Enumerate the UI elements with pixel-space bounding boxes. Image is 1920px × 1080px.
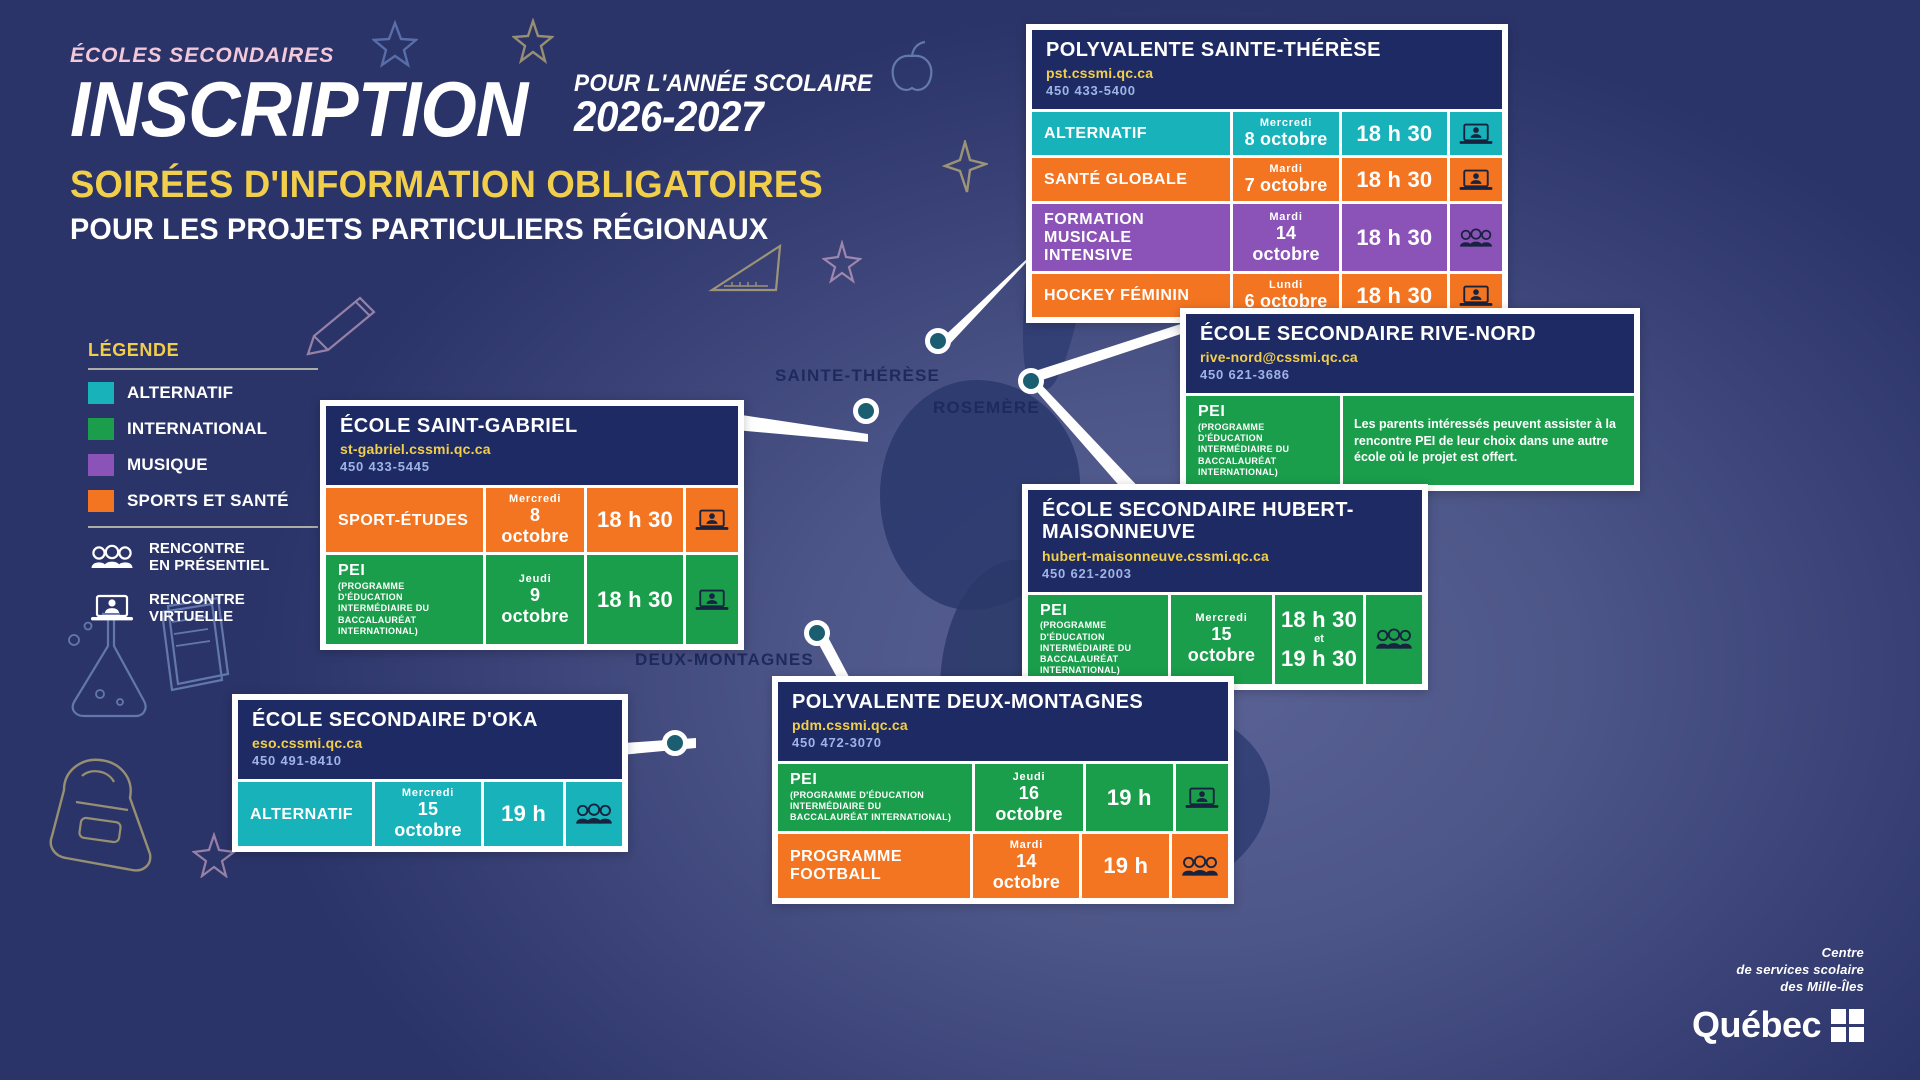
school-phone: 450 621-2003 <box>1042 566 1408 581</box>
program-row-alternatif[interactable]: ALTERNATIF Mercredi 8 octobre 18 h 30 <box>1032 112 1502 155</box>
legend-label-international: INTERNATIONAL <box>127 419 267 439</box>
connector-saint-gabriel <box>735 400 870 445</box>
program-rows: ALTERNATIF Mercredi 15 octobre 19 h <box>238 782 622 846</box>
program-row-pei[interactable]: PEI (PROGRAMME D'ÉDUCATION INTERMÉDIAIRE… <box>326 555 738 644</box>
program-row-alternatif[interactable]: ALTERNATIF Mercredi 15 octobre 19 h <box>238 782 622 846</box>
school-website[interactable]: pst.cssmi.qc.ca <box>1046 65 1488 81</box>
school-email[interactable]: rive-nord@cssmi.qc.ca <box>1200 349 1620 365</box>
date-value: 8 octobre <box>1245 129 1328 150</box>
virtual-meeting-icon <box>1450 158 1502 201</box>
map-dot-sainte-therese[interactable] <box>925 328 951 354</box>
legend-label-sports: SPORTS ET SANTÉ <box>127 491 289 511</box>
swatch-sports <box>88 490 114 512</box>
legend-label-in-person: RENCONTREEN PRÉSENTIEL <box>149 540 270 575</box>
legend-item-international: INTERNATIONAL <box>88 418 318 440</box>
program-title: ALTERNATIF <box>250 806 353 824</box>
swatch-musique <box>88 454 114 476</box>
school-phone: 450 491-8410 <box>252 753 608 768</box>
legend-item-alternatif: ALTERNATIF <box>88 382 318 404</box>
program-name-cell: ALTERNATIF <box>1032 112 1230 155</box>
swatch-international <box>88 418 114 440</box>
card-header: ÉCOLE SECONDAIRE HUBERT-MAISONNEUVE hube… <box>1028 490 1422 592</box>
school-website[interactable]: st-gabriel.cssmi.qc.ca <box>340 441 724 457</box>
quebec-flag-icon <box>1831 1009 1864 1042</box>
map-label-sainte-therese: SAINTE-THÉRÈSE <box>775 366 940 386</box>
star-doodle-pink-2 <box>192 832 236 878</box>
school-name: POLYVALENTE DEUX-MONTAGNES <box>792 691 1214 713</box>
in-person-meeting-icon <box>1366 595 1422 684</box>
date-value: 14 octobre <box>983 851 1069 893</box>
school-year: 2026-2027 <box>574 96 872 140</box>
program-name-cell: FORMATION MUSICALE INTENSIVE <box>1032 204 1230 271</box>
page-title: INSCRIPTION <box>70 74 527 146</box>
date-value: 7 octobre <box>1245 175 1328 196</box>
program-title: PEI <box>1198 403 1225 421</box>
school-card-ecole-secondaire-rive-nord[interactable]: ÉCOLE SECONDAIRE RIVE-NORD rive-nord@css… <box>1180 308 1640 491</box>
program-title: ALTERNATIF <box>1044 125 1147 143</box>
school-name: POLYVALENTE SAINTE-THÉRÈSE <box>1046 39 1488 61</box>
program-time-cell: 18 h 30 <box>1342 158 1447 201</box>
time-value: 18 h 30 <box>597 507 673 533</box>
time-value: 18 h 30 <box>597 587 673 613</box>
program-rows: SPORT-ÉTUDES Mercredi 8 octobre 18 h 30 … <box>326 488 738 644</box>
school-card-ecole-secondaire-hubert-maisonneuve[interactable]: ÉCOLE SECONDAIRE HUBERT-MAISONNEUVE hube… <box>1022 484 1428 690</box>
program-name-cell: PEI (PROGRAMME D'ÉDUCATION INTERMÉDIAIRE… <box>1028 595 1168 684</box>
school-phone: 450 433-5445 <box>340 459 724 474</box>
time-value: 18 h 30 <box>1356 225 1432 251</box>
program-time-cell: 18 h 30 <box>1342 204 1447 271</box>
program-name-cell: PEI (PROGRAMME D'ÉDUCATION INTERMÉDIAIRE… <box>326 555 483 644</box>
program-subtitle: (PROGRAMME D'ÉDUCATION INTERMÉDIAIRE DU … <box>1198 422 1328 478</box>
school-name: ÉCOLE SAINT-GABRIEL <box>340 415 724 437</box>
legend-label-virtual: RENCONTREVIRTUELLE <box>149 591 245 626</box>
card-header: POLYVALENTE SAINTE-THÉRÈSE pst.cssmi.qc.… <box>1032 30 1502 109</box>
time-value: 18 h 30 <box>1356 283 1432 309</box>
school-phone: 450 433-5400 <box>1046 83 1488 98</box>
virtual-meeting-icon <box>686 555 738 644</box>
program-date-cell: Mardi 14 octobre <box>1233 204 1338 271</box>
time-value: 19 h <box>501 801 546 827</box>
quebec-logo: Québec <box>1692 1004 1864 1046</box>
legend-item-sports: SPORTS ET SANTÉ <box>88 490 318 512</box>
program-rows: PEI (PROGRAMME D'ÉDUCATION INTERMÉDIAIRE… <box>778 764 1228 897</box>
program-time-cell: 18 h 30 <box>587 488 683 552</box>
program-row-formation-musicale[interactable]: FORMATION MUSICALE INTENSIVE Mardi 14 oc… <box>1032 204 1502 271</box>
backpack-doodle <box>30 742 166 878</box>
program-title: HOCKEY FÉMININ <box>1044 287 1189 305</box>
date-weekday: Mercredi <box>1260 117 1312 129</box>
card-header: POLYVALENTE DEUX-MONTAGNES pdm.cssmi.qc.… <box>778 682 1228 761</box>
card-header: ÉCOLE SECONDAIRE RIVE-NORD rive-nord@css… <box>1186 314 1634 393</box>
legend-divider-top <box>88 368 318 370</box>
program-title: PROGRAMME FOOTBALL <box>790 848 958 883</box>
time-value: 19 h <box>1103 853 1148 879</box>
program-name-cell: PEI (PROGRAMME D'ÉDUCATION INTERMÉDIAIRE… <box>1186 396 1340 485</box>
program-rows: ALTERNATIF Mercredi 8 octobre 18 h 30 SA… <box>1032 112 1502 317</box>
poster-background: ÉCOLES SECONDAIRES INSCRIPTION POUR L'AN… <box>0 0 1920 1080</box>
virtual-meeting-icon <box>686 488 738 552</box>
time-value: 18 h 30 <box>1281 607 1357 633</box>
date-weekday: Mercredi <box>402 787 454 799</box>
date-value: 14 octobre <box>1243 223 1328 265</box>
school-phone: 450 621-3686 <box>1200 367 1620 382</box>
school-website[interactable]: pdm.cssmi.qc.ca <box>792 717 1214 733</box>
school-name: ÉCOLE SECONDAIRE HUBERT-MAISONNEUVE <box>1042 499 1408 544</box>
date-weekday: Jeudi <box>519 573 552 585</box>
program-rows: PEI (PROGRAMME D'ÉDUCATION INTERMÉDIAIRE… <box>1028 595 1422 684</box>
time-value: 18 h 30 <box>1356 167 1432 193</box>
program-title: PEI <box>338 562 365 580</box>
school-phone: 450 472-3070 <box>792 735 1214 750</box>
legend-label-alternatif: ALTERNATIF <box>127 383 233 403</box>
program-row-pei[interactable]: PEI (PROGRAMME D'ÉDUCATION INTERMÉDIAIRE… <box>1186 396 1634 485</box>
program-row-sante-globale[interactable]: SANTÉ GLOBALE Mardi 7 octobre 18 h 30 <box>1032 158 1502 201</box>
legend-item-in-person: RENCONTREEN PRÉSENTIEL <box>88 540 318 575</box>
program-date-cell: Mercredi 15 octobre <box>375 782 481 846</box>
legend-title: LÉGENDE <box>88 340 318 361</box>
date-value: 15 octobre <box>385 799 471 841</box>
quebec-wordmark: Québec <box>1692 1004 1821 1046</box>
program-row-pei[interactable]: PEI (PROGRAMME D'ÉDUCATION INTERMÉDIAIRE… <box>1028 595 1422 684</box>
school-card-polyvalente-deux-montagnes[interactable]: POLYVALENTE DEUX-MONTAGNES pdm.cssmi.qc.… <box>772 676 1234 904</box>
subtitle-projects: POUR LES PROJETS PARTICULIERS RÉGIONAUX <box>70 213 1030 247</box>
program-date-cell: Jeudi 16 octobre <box>975 764 1082 830</box>
program-subtitle: (PROGRAMME D'ÉDUCATION INTERMÉDIAIRE DU … <box>790 790 960 824</box>
legend: LÉGENDE ALTERNATIF INTERNATIONAL MUSIQUE… <box>88 340 318 641</box>
program-time-cell: 19 h <box>1086 764 1173 830</box>
program-name-cell: SPORT-ÉTUDES <box>326 488 483 552</box>
program-subtitle: (PROGRAMME D'ÉDUCATION INTERMÉDIAIRE DU … <box>338 581 471 637</box>
virtual-meeting-icon <box>88 593 136 623</box>
in-person-meeting-icon <box>566 782 622 846</box>
in-person-meeting-icon <box>1450 204 1502 271</box>
virtual-meeting-icon <box>1450 112 1502 155</box>
program-date-cell: Mercredi 8 octobre <box>1233 112 1338 155</box>
time-value: 19 h <box>1107 785 1152 811</box>
program-rows: PEI (PROGRAMME D'ÉDUCATION INTERMÉDIAIRE… <box>1186 396 1634 485</box>
map-dot-saint-gabriel[interactable] <box>853 398 879 424</box>
legend-item-musique: MUSIQUE <box>88 454 318 476</box>
time-value: 18 h 30 <box>1356 121 1432 147</box>
school-name: ÉCOLE SECONDAIRE D'OKA <box>252 709 608 731</box>
program-row-programme-football[interactable]: PROGRAMME FOOTBALL Mardi 14 octobre 19 h <box>778 834 1228 898</box>
school-card-ecole-saint-gabriel[interactable]: ÉCOLE SAINT-GABRIEL st-gabriel.cssmi.qc.… <box>320 400 744 650</box>
date-weekday: Mardi <box>1010 839 1043 851</box>
subtitle-obligatory: SOIRÉES D'INFORMATION OBLIGATOIRES <box>70 164 1030 207</box>
program-time-cell: 18 h 30 <box>587 555 683 644</box>
program-name-cell: ALTERNATIF <box>238 782 372 846</box>
program-subtitle: (PROGRAMME D'ÉDUCATION INTERMÉDIAIRE DU … <box>1040 620 1156 676</box>
date-value: 15 octobre <box>1181 624 1262 666</box>
time-separator: et <box>1314 633 1324 646</box>
map-dot-oka[interactable] <box>662 730 688 756</box>
date-weekday: Jeudi <box>1013 771 1046 783</box>
map-label-deux-montagnes: DEUX-MONTAGNES <box>635 650 814 670</box>
program-name-cell: SANTÉ GLOBALE <box>1032 158 1230 201</box>
map-dot-deux-montagnes[interactable] <box>804 620 830 646</box>
card-header: ÉCOLE SECONDAIRE D'OKA eso.cssmi.qc.ca 4… <box>238 700 622 779</box>
footer-logo: Centre de services scolaire des Mille-Îl… <box>1692 945 1864 1046</box>
program-row-pei[interactable]: PEI (PROGRAMME D'ÉDUCATION INTERMÉDIAIRE… <box>778 764 1228 830</box>
legend-divider-middle <box>88 526 318 528</box>
program-title: SPORT-ÉTUDES <box>338 512 468 530</box>
school-note-text: Les parents intéressés peuvent assister … <box>1354 416 1623 465</box>
program-date-cell: Jeudi 9 octobre <box>486 555 584 644</box>
map-dot-rosemere[interactable] <box>1018 368 1044 394</box>
school-card-polyvalente-sainte-therese[interactable]: POLYVALENTE SAINTE-THÉRÈSE pst.cssmi.qc.… <box>1026 24 1508 323</box>
program-date-cell: Mardi 14 octobre <box>973 834 1079 898</box>
poster-header: ÉCOLES SECONDAIRES INSCRIPTION POUR L'AN… <box>70 44 1070 247</box>
program-date-cell: Mardi 7 octobre <box>1233 158 1338 201</box>
virtual-meeting-icon <box>1176 764 1228 830</box>
school-website[interactable]: hubert-maisonneuve.cssmi.qc.ca <box>1042 548 1408 564</box>
cssmi-org-name: Centre de services scolaire des Mille-Îl… <box>1692 945 1864 996</box>
program-time-cell: 19 h <box>1082 834 1169 898</box>
date-weekday: Mardi <box>1269 211 1302 223</box>
legend-label-musique: MUSIQUE <box>127 455 208 475</box>
date-weekday: Lundi <box>1269 279 1303 291</box>
date-value: 9 octobre <box>496 585 574 627</box>
program-time-cell: 18 h 30 et 19 h 30 <box>1275 595 1363 684</box>
program-name-cell: PEI (PROGRAMME D'ÉDUCATION INTERMÉDIAIRE… <box>778 764 972 830</box>
school-card-ecole-secondaire-oka[interactable]: ÉCOLE SECONDAIRE D'OKA eso.cssmi.qc.ca 4… <box>232 694 628 852</box>
time-value-second: 19 h 30 <box>1281 646 1357 672</box>
swatch-alternatif <box>88 382 114 404</box>
program-title: FORMATION MUSICALE INTENSIVE <box>1044 211 1218 264</box>
program-name-cell: PROGRAMME FOOTBALL <box>778 834 970 898</box>
program-row-sport-etudes[interactable]: SPORT-ÉTUDES Mercredi 8 octobre 18 h 30 <box>326 488 738 552</box>
program-time-cell: 19 h <box>484 782 563 846</box>
date-value: 8 octobre <box>496 505 574 547</box>
date-weekday: Mercredi <box>509 493 561 505</box>
legend-item-virtual: RENCONTREVIRTUELLE <box>88 591 318 626</box>
program-title: SANTÉ GLOBALE <box>1044 171 1187 189</box>
program-title: PEI <box>1040 602 1067 620</box>
school-website[interactable]: eso.cssmi.qc.ca <box>252 735 608 751</box>
program-date-cell: Mercredi 15 octobre <box>1171 595 1272 684</box>
program-date-cell: Mercredi 8 octobre <box>486 488 584 552</box>
card-header: ÉCOLE SAINT-GABRIEL st-gabriel.cssmi.qc.… <box>326 406 738 485</box>
school-note-cell: Les parents intéressés peuvent assister … <box>1343 396 1634 485</box>
map-label-rosemere: ROSEMÈRE <box>933 398 1040 418</box>
date-value: 16 octobre <box>985 783 1072 825</box>
in-person-meeting-icon <box>88 544 136 570</box>
program-title: PEI <box>790 771 817 789</box>
date-weekday: Mardi <box>1269 163 1302 175</box>
school-name: ÉCOLE SECONDAIRE RIVE-NORD <box>1200 323 1620 345</box>
program-time-cell: 18 h 30 <box>1342 112 1447 155</box>
date-weekday: Mercredi <box>1195 612 1247 624</box>
in-person-meeting-icon <box>1172 834 1228 898</box>
